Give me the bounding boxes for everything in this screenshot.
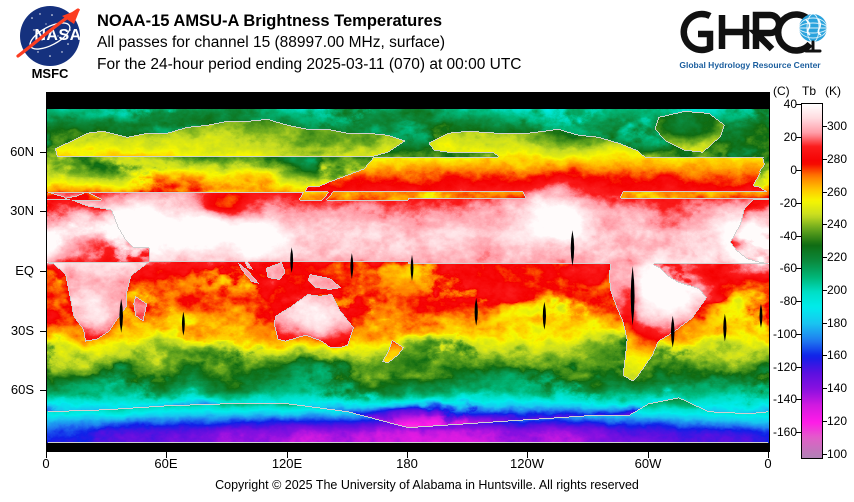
colorbar-label-kelvin: 100	[827, 447, 854, 461]
colorbar-label-kelvin: 180	[827, 316, 854, 330]
colorbar-gradient	[802, 104, 822, 458]
nasa-msfc-logo: NASA MSFC	[12, 4, 88, 84]
colorbar-label-celsius: 20	[771, 130, 797, 144]
lat-tick	[40, 152, 46, 153]
colorbar-label-celsius: -80	[771, 294, 797, 308]
map-plot-area[interactable]	[46, 92, 770, 452]
page-title: NOAA-15 AMSU-A Brightness Temperatures	[97, 10, 657, 32]
lon-axis-label: 120E	[257, 456, 317, 471]
colorbar-label-celsius: -60	[771, 261, 797, 275]
lat-axis-label: 60S	[0, 382, 34, 397]
colorbar-label-celsius: -100	[771, 327, 797, 341]
colorbar: (C) Tb (K) 40200-20-40-60-80-100-120-140…	[772, 84, 854, 474]
colorbar-label-kelvin: 280	[827, 152, 854, 166]
lat-tick	[40, 331, 46, 332]
colorbar-label-celsius: -120	[771, 360, 797, 374]
lat-tick	[40, 390, 46, 391]
colorbar-label-celsius: -40	[771, 229, 797, 243]
colorbar-label-kelvin: 220	[827, 250, 854, 264]
lat-axis-label: 30N	[0, 203, 34, 218]
colorbar-label-celsius: 40	[771, 97, 797, 111]
ghrc-tagline: Global Hydrology Resource Center	[676, 60, 824, 70]
nasa-red-swoosh-icon	[12, 4, 88, 68]
lat-axis-label: 30S	[0, 323, 34, 338]
colorbar-quantity-label: Tb	[802, 84, 816, 98]
channel-subtitle: All passes for channel 15 (88997.00 MHz,…	[97, 32, 657, 54]
nasa-center-label: MSFC	[12, 66, 88, 81]
colorbar-label-kelvin: 120	[827, 414, 854, 428]
colorbar-bar	[801, 103, 823, 459]
ghrc-acronym-icon	[676, 6, 836, 58]
lat-tick	[40, 271, 46, 272]
colorbar-label-kelvin: 300	[827, 119, 854, 133]
lat-axis-label: 60N	[0, 144, 34, 159]
ghrc-logo: Global Hydrology Resource Center	[676, 6, 836, 80]
colorbar-unit-celsius: (C)	[773, 84, 790, 98]
colorbar-label-celsius: 0	[771, 163, 797, 177]
lon-axis-label: 0	[16, 456, 76, 471]
copyright-notice: Copyright © 2025 The University of Alaba…	[0, 478, 854, 492]
colorbar-label-kelvin: 160	[827, 348, 854, 362]
colorbar-unit-kelvin: (K)	[825, 84, 841, 98]
colorbar-label-celsius: -140	[771, 392, 797, 406]
colorbar-label-kelvin: 240	[827, 217, 854, 231]
period-subtitle: For the 24-hour period ending 2025-03-11…	[97, 54, 657, 76]
colorbar-label-kelvin: 200	[827, 283, 854, 297]
lon-axis-label: 60E	[136, 456, 196, 471]
colorbar-label-celsius: -20	[771, 196, 797, 210]
lat-axis-label: EQ	[0, 263, 34, 278]
lon-axis-label: 60W	[618, 456, 678, 471]
colorbar-label-kelvin: 260	[827, 185, 854, 199]
lon-axis-label: 180	[377, 456, 437, 471]
colorbar-label-celsius: -160	[771, 425, 797, 439]
colorbar-label-kelvin: 140	[827, 381, 854, 395]
lon-axis-label: 120W	[497, 456, 557, 471]
brightness-temperature-heatmap[interactable]	[47, 93, 769, 451]
lat-tick	[40, 211, 46, 212]
title-block: NOAA-15 AMSU-A Brightness Temperatures A…	[97, 10, 657, 76]
header: NASA MSFC NOAA-15 AMSU-A Brightness Temp…	[0, 0, 854, 88]
